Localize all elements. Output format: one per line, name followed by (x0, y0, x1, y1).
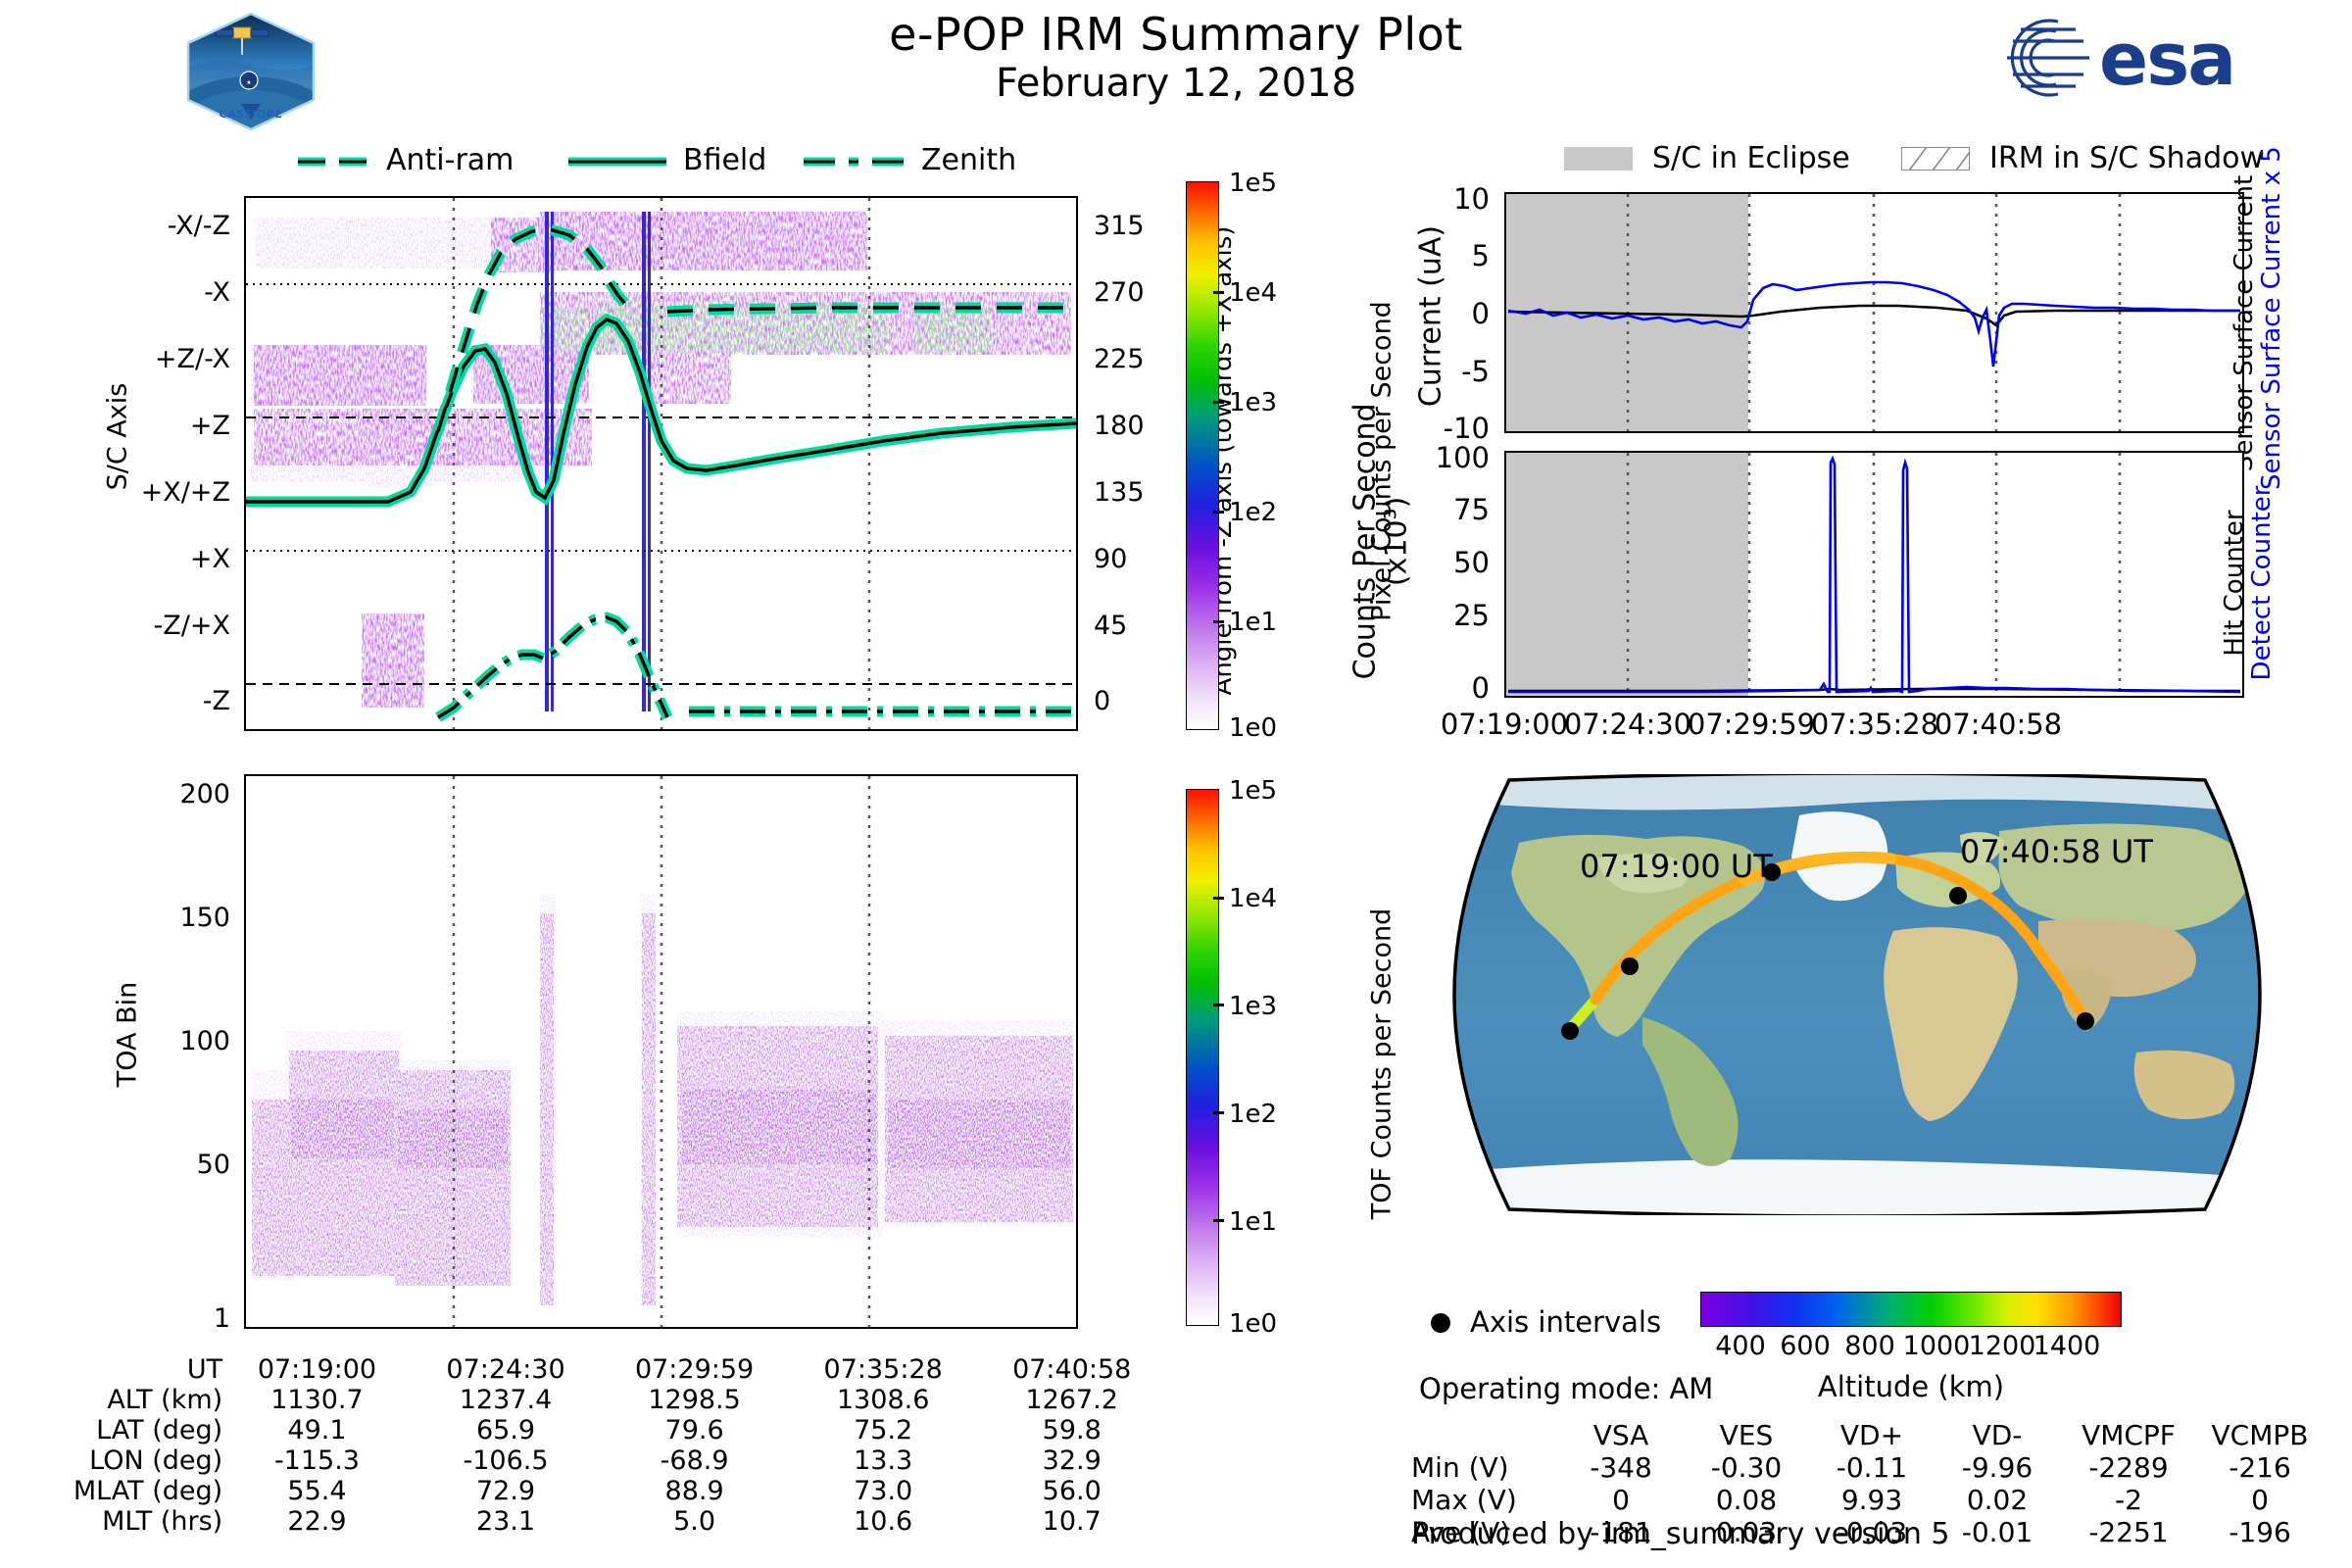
row-label-ut: UT (69, 1354, 222, 1385)
vt-min-vcmpb: -216 (2197, 1451, 2323, 1484)
tof-cb-tick-4: 1e1 (1229, 1207, 1277, 1237)
vt-min-ves: -0.30 (1684, 1451, 1809, 1484)
counts-ytick-4: 0 (1392, 671, 1490, 705)
legend-label-bfield: Bfield (683, 143, 766, 177)
counts-right-label-blue: Detect Counter (2247, 426, 2277, 740)
map-end-time-label: 07:40:58 UT (1960, 833, 2153, 870)
cell-alt-4: 1267.2 (977, 1385, 1166, 1415)
altitude-colorbar-label: Altitude (km) (1754, 1370, 2068, 1403)
vt-row-label-min: Min (V) (1411, 1451, 1558, 1484)
row-label-mlt: MLT (hrs) (69, 1506, 222, 1537)
counts-right-label-black: Hit Counter (2220, 426, 2249, 740)
sc-axis-right-ytick-3: 180 (1094, 411, 1145, 441)
vt-header-vdplus: VD+ (1809, 1419, 1935, 1451)
cell-ut-4: 07:40:58 (977, 1354, 1166, 1385)
tof-cb-tickmark-1e3 (1213, 1004, 1224, 1006)
pixel-cb-tick-3: 1e2 (1229, 498, 1277, 527)
sc-axis-right-ytick-4: 135 (1094, 477, 1145, 508)
vt-header-vmcpf: VMCPF (2060, 1419, 2197, 1451)
sensor-surface-current-plot[interactable] (1504, 192, 2244, 433)
table-row: LON (deg) -115.3 -106.5 -68.9 13.3 32.9 (69, 1445, 1166, 1476)
vt-header-vcmpb: VCMPB (2197, 1419, 2323, 1451)
tof-cb-tick-3: 1e2 (1229, 1100, 1277, 1129)
table-row: UT 07:19:00 07:24:30 07:29:59 07:35:28 0… (69, 1354, 1166, 1385)
vt-max-vdplus: 9.93 (1809, 1484, 1935, 1516)
row-label-mlat: MLAT (deg) (69, 1476, 222, 1506)
vt-max-vcmpb: 0 (2197, 1484, 2323, 1516)
vt-header-vdminus: VD- (1935, 1419, 2060, 1451)
pixel-cb-tickmark-1e3 (1213, 401, 1224, 404)
vt-header-vsa: VSA (1558, 1419, 1684, 1451)
cell-mlat-3: 73.0 (789, 1476, 978, 1506)
pixel-cb-tickmark-1e2 (1213, 511, 1224, 514)
table-row: MLAT (deg) 55.4 72.9 88.9 73.0 56.0 (69, 1476, 1166, 1506)
cell-mlt-3: 10.6 (789, 1506, 978, 1537)
cell-mlt-0: 22.9 (222, 1506, 412, 1537)
pixel-cb-tickmark-1e1 (1213, 620, 1224, 623)
cell-mlt-2: 5.0 (600, 1506, 789, 1537)
cell-alt-3: 1308.6 (789, 1385, 978, 1415)
toa-ytick-3: 50 (93, 1150, 230, 1180)
counts-ytick-1: 75 (1382, 493, 1490, 526)
current-ytick-3: -5 (1382, 355, 1490, 388)
toa-ytick-0: 200 (93, 779, 230, 809)
sc-axis-ytick-6: -Z/+X (78, 611, 230, 641)
vt-ave-vcmpb: -196 (2197, 1516, 2323, 1548)
vt-min-vdplus: -0.11 (1809, 1451, 1935, 1484)
current-ytick-2: 0 (1392, 297, 1490, 330)
vt-header-ves: VES (1684, 1419, 1809, 1451)
counts-xtick-4: 07:40:58 (1920, 708, 2077, 741)
tof-cb-tickmark-1e4 (1213, 897, 1224, 900)
cell-alt-0: 1130.7 (222, 1385, 412, 1415)
alt-tick-5: 1400 (2023, 1331, 2111, 1361)
toa-ytick-2: 100 (93, 1026, 230, 1056)
vt-max-vdminus: 0.02 (1935, 1484, 2060, 1516)
sc-axis-ytick-4: +X/+Z (78, 477, 230, 508)
operating-mode-label: Operating mode: AM (1419, 1372, 1713, 1405)
pixel-cb-tick-1: 1e4 (1229, 278, 1277, 308)
pixel-cb-tick-0: 1e5 (1229, 169, 1277, 198)
row-label-alt: ALT (km) (69, 1385, 222, 1415)
vt-row-label-max: Max (V) (1411, 1484, 1558, 1516)
tof-cb-tick-0: 1e5 (1229, 776, 1277, 806)
counts-ylabel-wrap: Counts Per Second (x10³) (1350, 394, 1414, 688)
cell-lat-3: 75.2 (789, 1415, 978, 1445)
pixel-counts-colorbar (1186, 181, 1219, 730)
current-ytick-0: 10 (1392, 182, 1490, 216)
legend-label-anti-ram: Anti-ram (386, 143, 514, 177)
table-row: LAT (deg) 49.1 65.9 79.6 75.2 59.8 (69, 1415, 1166, 1445)
sc-axis-right-ytick-0: 315 (1094, 211, 1145, 241)
footer-produced-by: Produced by irm_summary version 5 (1411, 1517, 1949, 1551)
sc-axis-right-ytick-6: 45 (1094, 611, 1127, 641)
sc-axis-ytick-7: -Z (78, 686, 230, 716)
altitude-colorbar (1700, 1292, 2122, 1327)
svg-text:CASSIOPE: CASSIOPE (220, 108, 283, 121)
legend-label-zenith: Zenith (921, 143, 1016, 177)
toa-bin-spectrogram[interactable] (244, 774, 1078, 1329)
counts-per-second-plot[interactable] (1504, 451, 2244, 698)
esa-logo: esa (1999, 14, 2274, 102)
pixel-cb-tick-5: 1e0 (1229, 713, 1277, 743)
legend-swatch-eclipse (1564, 147, 1633, 171)
legend-swatch-irm-shadow (1901, 147, 1970, 171)
sc-axis-ytick-2: +Z/-X (78, 344, 230, 374)
vt-header-blank (1411, 1419, 1558, 1451)
cell-lat-4: 59.8 (977, 1415, 1166, 1445)
map-start-time-label: 07:19:00 UT (1580, 848, 1773, 885)
cell-lat-2: 79.6 (600, 1415, 789, 1445)
legend-label-eclipse: S/C in Eclipse (1652, 141, 1850, 175)
vt-max-vsa: 0 (1558, 1484, 1684, 1516)
svg-text:★: ★ (246, 79, 251, 86)
counts-ytick-3: 25 (1382, 599, 1490, 632)
pixel-cb-tickmark-1e4 (1213, 291, 1224, 294)
tof-cb-tick-5: 1e0 (1229, 1309, 1277, 1339)
cell-ut-1: 07:24:30 (412, 1354, 601, 1385)
vt-min-vmcpf: -2289 (2060, 1451, 2197, 1484)
toa-ytick-1: 150 (93, 903, 230, 933)
sc-axis-spectrogram[interactable] (244, 196, 1078, 731)
cell-lon-3: 13.3 (789, 1445, 978, 1476)
vt-min-vdminus: -9.96 (1935, 1451, 2060, 1484)
cell-mlt-4: 10.7 (977, 1506, 1166, 1537)
vt-min-vsa: -348 (1558, 1451, 1684, 1484)
sc-axis-right-ytick-2: 225 (1094, 344, 1145, 374)
cell-ut-2: 07:29:59 (600, 1354, 789, 1385)
current-ytick-1: 5 (1392, 239, 1490, 272)
counts-ytick-2: 50 (1382, 546, 1490, 579)
cell-alt-2: 1298.5 (600, 1385, 789, 1415)
table-row: Max (V) 0 0.08 9.93 0.02 -2 0 (1411, 1484, 2323, 1516)
table-row: MLT (hrs) 22.9 23.1 5.0 10.6 10.7 (69, 1506, 1166, 1537)
legend-label-irm-shadow: IRM in S/C Shadow (1989, 141, 2264, 175)
tof-cb-tick-2: 1e3 (1229, 992, 1277, 1021)
counts-ylabel: Counts Per Second (x10³) (1350, 394, 1414, 688)
sc-axis-ytick-1: -X (78, 277, 230, 308)
cell-lat-0: 49.1 (222, 1415, 412, 1445)
sc-axis-right-ytick-7: 0 (1094, 686, 1110, 716)
axis-intervals-label: Axis intervals (1470, 1305, 1661, 1339)
tof-cb-tickmark-1e1 (1213, 1219, 1224, 1222)
cell-mlat-1: 72.9 (412, 1476, 601, 1506)
counts-ytick-0: 100 (1372, 441, 1490, 474)
vt-max-vmcpf: -2 (2060, 1484, 2197, 1516)
table-header-row: VSA VES VD+ VD- VMCPF VCMPB (1411, 1419, 2323, 1451)
cell-ut-3: 07:35:28 (789, 1354, 978, 1385)
pixel-cb-tick-2: 1e3 (1229, 388, 1277, 417)
tof-counts-colorbar (1186, 789, 1219, 1326)
cell-lon-2: -68.9 (600, 1445, 789, 1476)
sc-axis-ytick-0: -X/-Z (78, 211, 230, 241)
cell-mlat-4: 56.0 (977, 1476, 1166, 1506)
axis-interval-dot-icon (1431, 1313, 1450, 1333)
toa-ytick-4: 1 (93, 1303, 230, 1334)
tof-cb-tickmark-1e2 (1213, 1111, 1224, 1114)
row-label-lat: LAT (deg) (69, 1415, 222, 1445)
vt-ave-vmcpf: -2251 (2060, 1516, 2197, 1548)
row-label-lon: LON (deg) (69, 1445, 222, 1476)
cell-mlat-0: 55.4 (222, 1476, 412, 1506)
cell-ut-0: 07:19:00 (222, 1354, 412, 1385)
vt-max-ves: 0.08 (1684, 1484, 1809, 1516)
cell-mlt-1: 23.1 (412, 1506, 601, 1537)
tof-cb-tick-1: 1e4 (1229, 884, 1277, 913)
pixel-cb-tick-4: 1e1 (1229, 608, 1277, 637)
cell-alt-1: 1237.4 (412, 1385, 601, 1415)
vt-ave-vdminus: -0.01 (1935, 1516, 2060, 1548)
svg-text:esa: esa (2099, 18, 2234, 102)
ephemeris-table: UT 07:19:00 07:24:30 07:29:59 07:35:28 0… (69, 1354, 1166, 1537)
table-row: ALT (km) 1130.7 1237.4 1298.5 1308.6 126… (69, 1385, 1166, 1415)
cell-lon-1: -106.5 (412, 1445, 601, 1476)
table-row: Min (V) -348 -0.30 -0.11 -9.96 -2289 -21… (1411, 1451, 2323, 1484)
sc-axis-ytick-3: +Z (78, 411, 230, 441)
cell-lon-0: -115.3 (222, 1445, 412, 1476)
cell-mlat-2: 88.9 (600, 1476, 789, 1506)
cell-lat-1: 65.9 (412, 1415, 601, 1445)
sc-axis-right-ytick-5: 90 (1094, 544, 1127, 574)
tof-cb-label: TOF Counts per Second (1367, 790, 1397, 1339)
sc-axis-ytick-5: +X (78, 544, 230, 574)
sc-axis-right-ytick-1: 270 (1094, 277, 1145, 308)
cassiope-logo: ★ CASSIOPE (182, 10, 319, 133)
cell-lon-4: 32.9 (977, 1445, 1166, 1476)
